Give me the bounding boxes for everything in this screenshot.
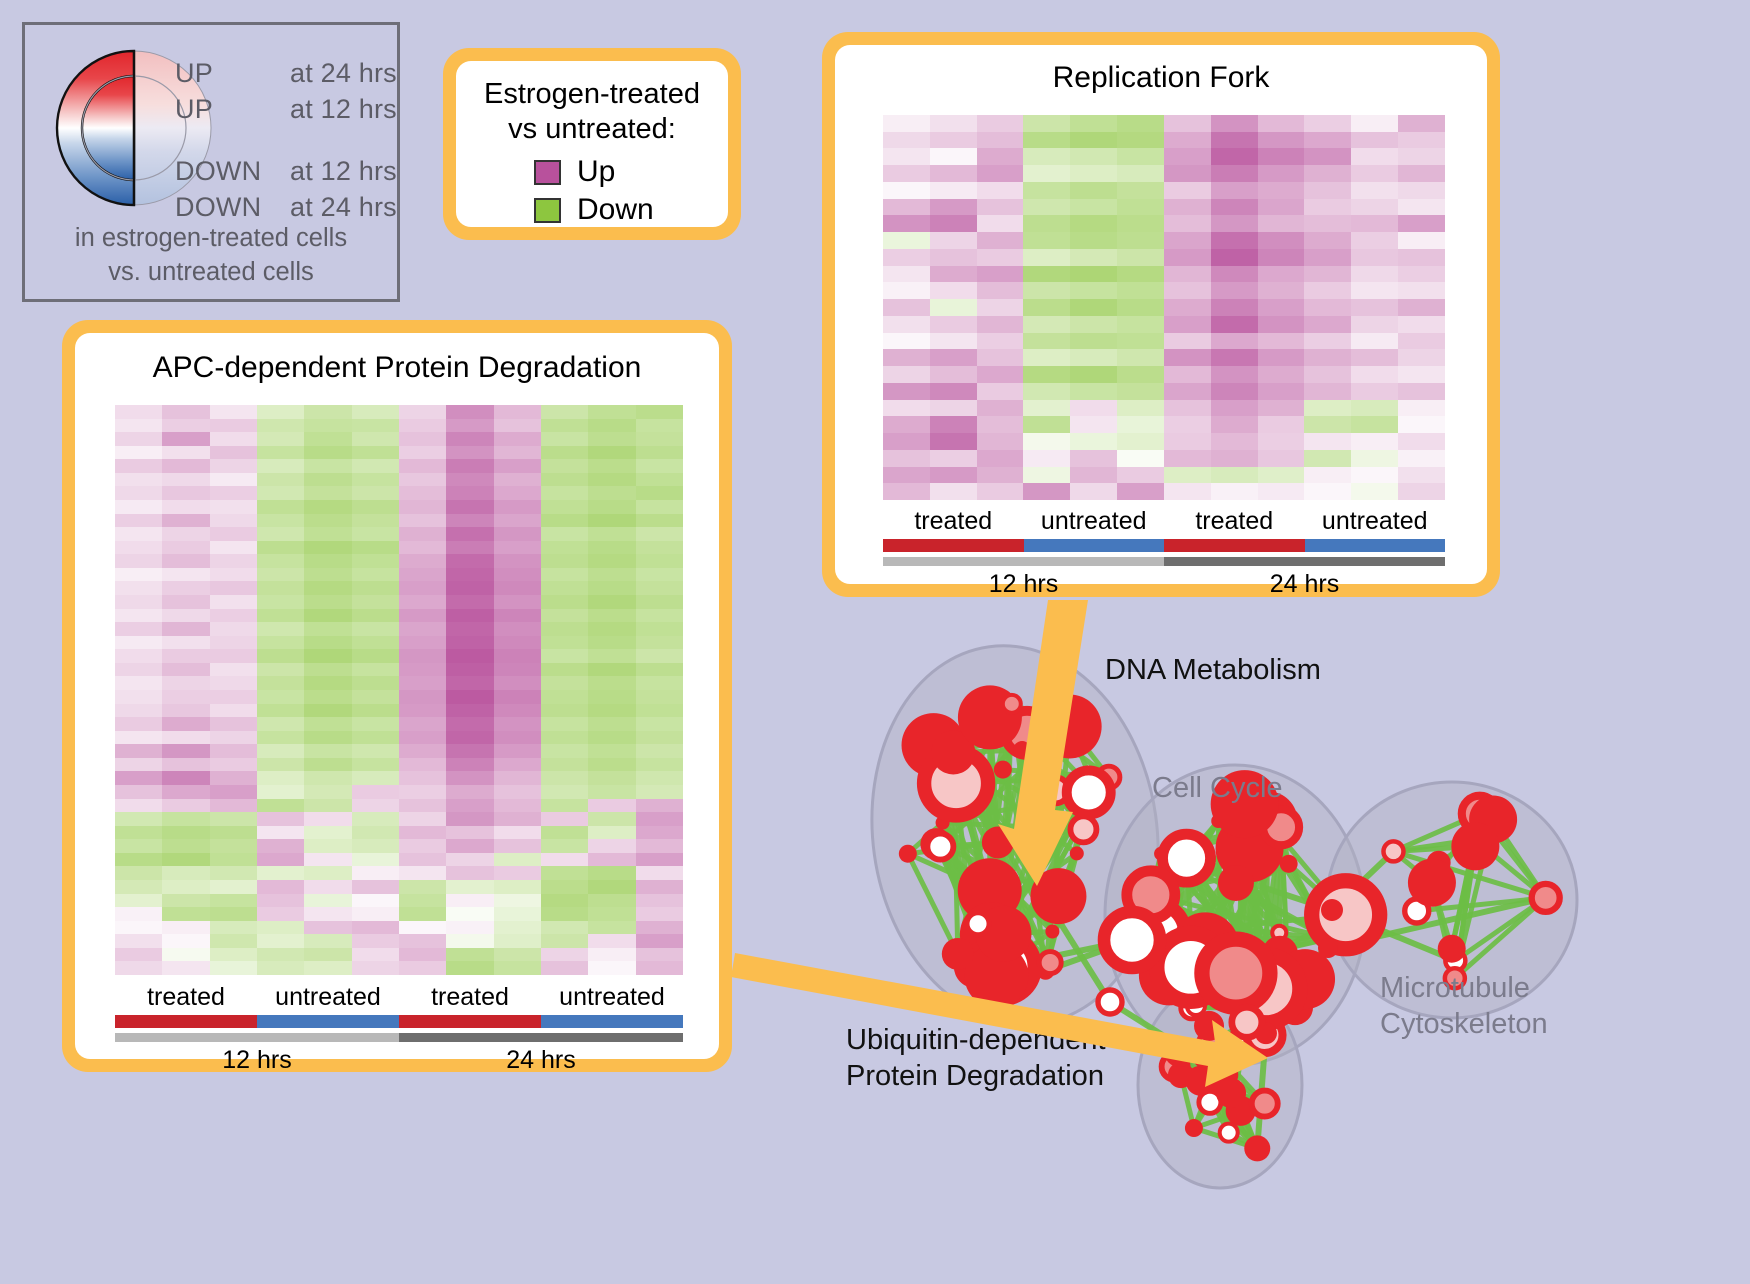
heatmap-cell: [257, 609, 304, 623]
heatmap-cell: [1211, 165, 1258, 182]
heatmap-cell: [1398, 416, 1445, 433]
heatmap-cell: [494, 405, 541, 419]
heatmap-cell: [588, 581, 635, 595]
heatmap-cell: [115, 744, 162, 758]
heatmap-cell: [1258, 132, 1305, 149]
heatmap-cell: [115, 500, 162, 514]
up-swatch-icon: [534, 160, 561, 185]
heatmap-cell: [115, 866, 162, 880]
heatmap-cell: [1117, 199, 1164, 216]
heatmap-cell: [115, 934, 162, 948]
network-node: [1195, 1048, 1213, 1066]
heatmap-cell: [162, 731, 209, 745]
heatmap-cell: [930, 349, 977, 366]
heatmap-cell: [115, 649, 162, 663]
heatmap-cell: [115, 799, 162, 813]
heatmap-cell: [494, 541, 541, 555]
heatmap-cell: [541, 812, 588, 826]
heatmap-cell: [541, 961, 588, 975]
heatmap-cell: [257, 907, 304, 921]
network-node: [1408, 859, 1456, 907]
heatmap-cell: [304, 758, 351, 772]
timepoint-label: 24 hrs: [1164, 570, 1445, 599]
untreated-bar: [1305, 539, 1446, 552]
heatmap-cell: [541, 785, 588, 799]
cluster-label-microtubule-cytoskeleton: Microtubule Cytoskeleton: [1380, 970, 1548, 1042]
heatmap-cell: [304, 486, 351, 500]
heatmap-cell: [494, 446, 541, 460]
heatmap-cell: [541, 541, 588, 555]
color-key-row: UP at 24 hrs: [175, 55, 405, 91]
heatmap-cell: [1398, 366, 1445, 383]
heatmap-cell: [588, 921, 635, 935]
heatmap-cell: [494, 486, 541, 500]
heatmap-cell: [494, 771, 541, 785]
axis-group-label: untreated: [257, 983, 399, 1012]
heatmap-cell: [115, 921, 162, 935]
heatmap-cell: [1351, 366, 1398, 383]
heatmap-cell: [304, 554, 351, 568]
heatmap-cell: [210, 907, 257, 921]
heatmap-cell: [1023, 132, 1070, 149]
heatmap-cell: [883, 282, 930, 299]
heatmap-cell: [494, 961, 541, 975]
heatmap-cell: [304, 853, 351, 867]
heatmap-cell: [494, 744, 541, 758]
heatmap-cell: [352, 907, 399, 921]
heatmap-cell: [162, 799, 209, 813]
heatmap-cell: [304, 419, 351, 433]
heatmap-cell: [399, 853, 446, 867]
network-node: [1039, 952, 1061, 974]
heatmap-cell: [446, 771, 493, 785]
heatmap-cell: [352, 866, 399, 880]
heatmap-cell: [446, 826, 493, 840]
heatmap-cell: [210, 581, 257, 595]
heatmap-cell: [210, 541, 257, 555]
heatmap-cell: [210, 473, 257, 487]
heatmap-cell: [162, 771, 209, 785]
heatmap-cell: [636, 663, 683, 677]
heatmap-cell: [115, 446, 162, 460]
network-node: [1186, 1066, 1216, 1096]
heatmap-cell: [1258, 366, 1305, 383]
treated-bar: [883, 539, 1024, 552]
heatmap-cell: [446, 880, 493, 894]
network-node: [1216, 1078, 1246, 1108]
heatmap-cell: [210, 785, 257, 799]
heatmap-cell: [588, 717, 635, 731]
heatmap-cell: [636, 771, 683, 785]
heatmap-cell: [162, 704, 209, 718]
heatmap-cell: [210, 704, 257, 718]
heatmap-cell: [1164, 232, 1211, 249]
heatmap-cell: [588, 812, 635, 826]
network-node: [1218, 865, 1254, 901]
heatmap-cell: [1351, 215, 1398, 232]
heatmap-cell: [162, 948, 209, 962]
heatmap-cell: [162, 649, 209, 663]
cluster-label-dna-metabolism: DNA Metabolism: [1105, 652, 1321, 688]
heatmap-cell: [399, 514, 446, 528]
heatmap-cell: [1304, 333, 1351, 350]
heatmap-cell: [210, 799, 257, 813]
heatmap-cell: [1304, 450, 1351, 467]
heatmap-cell: [446, 622, 493, 636]
heatmap-cell: [1023, 383, 1070, 400]
heatmap-cell: [352, 799, 399, 813]
network-node: [1202, 939, 1270, 1007]
axis-group-bars: [115, 1015, 683, 1028]
axis-timepoint-bars: [883, 557, 1445, 566]
heatmap-cell: [399, 758, 446, 772]
heatmap-cell: [304, 568, 351, 582]
heatmap-cell: [494, 785, 541, 799]
heatmap-cell: [930, 450, 977, 467]
heatmap-cell: [1398, 333, 1445, 350]
heatmap-cell: [257, 419, 304, 433]
heatmap-cell: [588, 663, 635, 677]
heatmap-cell: [399, 446, 446, 460]
heatmap-cell: [930, 483, 977, 500]
heatmap-cell: [399, 799, 446, 813]
heatmap-cell: [883, 232, 930, 249]
heatmap-cell: [115, 636, 162, 650]
heatmap-cell: [1117, 383, 1164, 400]
heatmap-cell: [588, 622, 635, 636]
heatmap-cell: [399, 432, 446, 446]
heatmap-cell: [304, 704, 351, 718]
axis-group-labels: treated untreated treated untreated: [883, 507, 1445, 536]
heatmap-cell: [1211, 115, 1258, 132]
heatmap-cell: [588, 554, 635, 568]
network-node: [1280, 855, 1298, 873]
heatmap-cell: [352, 690, 399, 704]
heatmap-cell: [352, 717, 399, 731]
heatmap-cell: [399, 622, 446, 636]
heatmap-cell: [977, 249, 1024, 266]
heatmap-cell: [636, 405, 683, 419]
network-node: [899, 845, 917, 863]
heatmap-cell: [304, 500, 351, 514]
heatmap-cell: [352, 473, 399, 487]
heatmap-cell: [541, 731, 588, 745]
heatmap-cell: [541, 866, 588, 880]
heatmap-cell: [541, 676, 588, 690]
heatmap-cell: [588, 690, 635, 704]
heatmap-cell: [446, 446, 493, 460]
legend-title-line2: vs untreated:: [456, 112, 728, 147]
heatmap-cell: [446, 459, 493, 473]
heatmap-cell: [1070, 249, 1117, 266]
heatmap-cell: [1304, 182, 1351, 199]
heatmap-cell: [1023, 266, 1070, 283]
network-node: [1070, 846, 1084, 860]
heatmap-cell: [977, 349, 1024, 366]
heatmap-cell: [1023, 299, 1070, 316]
heatmap-cell: [1070, 199, 1117, 216]
heatmap-cell: [494, 459, 541, 473]
heatmap-cell: [588, 758, 635, 772]
heatmap-cell: [210, 839, 257, 853]
heatmap-cell: [399, 839, 446, 853]
heatmap-cell: [446, 839, 493, 853]
heatmap-cell: [1258, 483, 1305, 500]
heatmap-cell: [115, 826, 162, 840]
network-node: [1451, 822, 1499, 870]
heatmap-cell: [494, 826, 541, 840]
heatmap-cell: [115, 609, 162, 623]
heatmap-cell: [636, 609, 683, 623]
heatmap-cell: [1398, 450, 1445, 467]
heatmap-cell: [115, 473, 162, 487]
heatmap-cell: [1164, 349, 1211, 366]
heatmap-cell: [1023, 483, 1070, 500]
heatmap-cell: [304, 948, 351, 962]
heatmap-cell: [930, 232, 977, 249]
heatmap-cell: [1117, 366, 1164, 383]
network-node: [1003, 695, 1021, 713]
network-node: [1321, 899, 1343, 921]
heatmap-cell: [541, 839, 588, 853]
heatmap-cell: [1070, 416, 1117, 433]
heatmap-cell: [210, 500, 257, 514]
color-key-row: UP at 12 hrs: [175, 91, 405, 127]
legend-item-down: Down: [534, 191, 728, 229]
heatmap-cell: [1164, 450, 1211, 467]
heatmap-cell: [257, 921, 304, 935]
heatmap-cell: [1023, 416, 1070, 433]
heatmap-cell: [636, 853, 683, 867]
heatmap-cell: [883, 249, 930, 266]
heatmap-cell: [1117, 232, 1164, 249]
heatmap-cell: [257, 581, 304, 595]
heatmap-cell: [352, 704, 399, 718]
pathway-network: DNA Metabolism Cell Cycle Microtubule Cy…: [780, 610, 1750, 1279]
heatmap-cell: [1398, 115, 1445, 132]
heatmap-cell: [210, 636, 257, 650]
heatmap-cell: [1258, 232, 1305, 249]
heatmap-cell: [588, 649, 635, 663]
heatmap-cell: [883, 148, 930, 165]
heatmap-cell: [883, 366, 930, 383]
heatmap-cell: [1211, 132, 1258, 149]
heatmap-cell: [930, 115, 977, 132]
heatmap-cell: [257, 826, 304, 840]
heatmap-cell: [257, 649, 304, 663]
heatmap-cell: [1398, 316, 1445, 333]
heatmap-cell: [1164, 333, 1211, 350]
heatmap-cell: [588, 636, 635, 650]
heatmap-cell: [1023, 467, 1070, 484]
heatmap-cell: [930, 165, 977, 182]
heatmap-cell: [588, 446, 635, 460]
key-direction: UP: [175, 94, 290, 125]
panel-title: APC-dependent Protein Degradation: [75, 333, 719, 385]
heatmap-cell: [210, 405, 257, 419]
heatmap-cell: [541, 568, 588, 582]
heatmap-cell: [257, 731, 304, 745]
heatmap-cell: [883, 199, 930, 216]
heatmap-cell: [588, 486, 635, 500]
heatmap-cell: [977, 333, 1024, 350]
heatmap-cell: [1304, 467, 1351, 484]
network-graph: [780, 610, 1750, 1279]
heatmap-cell: [399, 609, 446, 623]
heatmap-cell: [1117, 433, 1164, 450]
heatmap-cell: [210, 731, 257, 745]
heatmap-cell: [1117, 215, 1164, 232]
heatmap-cell: [1070, 450, 1117, 467]
heatmap-cell: [1211, 182, 1258, 199]
heatmap-cell: [1304, 366, 1351, 383]
heatmap-cell: [1398, 400, 1445, 417]
network-node: [1318, 938, 1338, 958]
heatmap-cell: [210, 826, 257, 840]
heatmap-cell: [930, 433, 977, 450]
heatmap-cell: [636, 432, 683, 446]
heatmap-cell: [399, 663, 446, 677]
heatmap-cell: [1117, 165, 1164, 182]
heatmap-cell: [977, 316, 1024, 333]
heatmap-cell: [588, 771, 635, 785]
heatmap-cell: [162, 459, 209, 473]
down-swatch-icon: [534, 198, 561, 223]
key-time: at 12 hrs: [290, 94, 397, 125]
heatmap-cell: [1258, 333, 1305, 350]
heatmap-cell: [1258, 282, 1305, 299]
heatmap-cell: [162, 419, 209, 433]
heatmap-cell: [1398, 467, 1445, 484]
heatmap-cell: [494, 514, 541, 528]
heatmap-cell: [1023, 148, 1070, 165]
heatmap-cell: [930, 416, 977, 433]
heatmap-cell: [446, 527, 493, 541]
heatmap-cell: [352, 609, 399, 623]
heatmap-cell: [210, 527, 257, 541]
heatmap-cell: [1258, 316, 1305, 333]
heatmap-cell: [930, 333, 977, 350]
heatmap-cell: [588, 744, 635, 758]
heatmap-cell: [1117, 182, 1164, 199]
heatmap-cell: [399, 636, 446, 650]
heatmap-cell: [162, 826, 209, 840]
heatmap-cell: [257, 473, 304, 487]
heatmap-cell: [636, 758, 683, 772]
heatmap-cell: [977, 182, 1024, 199]
heatmap-cell: [115, 731, 162, 745]
heatmap-cell: [257, 676, 304, 690]
heatmap-cell: [304, 907, 351, 921]
heatmap-cell: [210, 771, 257, 785]
heatmap-cell: [541, 595, 588, 609]
heatmap-cell: [210, 961, 257, 975]
network-node: [1383, 841, 1403, 861]
heatmap-cell: [494, 663, 541, 677]
heatmap-cell: [210, 812, 257, 826]
heatmap-cell: [1211, 215, 1258, 232]
heatmap-cell: [115, 554, 162, 568]
heatmap-cell: [541, 609, 588, 623]
heatmap-cell: [257, 771, 304, 785]
heatmap-cell: [541, 473, 588, 487]
heatmap-cell: [588, 853, 635, 867]
heatmap-cell: [1070, 467, 1117, 484]
heatmap-cell: [930, 299, 977, 316]
heatmap-cell: [636, 704, 683, 718]
heatmap-cell: [1351, 450, 1398, 467]
heatmap-cell: [304, 622, 351, 636]
heatmap-cell: [1117, 299, 1164, 316]
heatmap-cell: [257, 446, 304, 460]
heatmap-cell: [304, 609, 351, 623]
heatmap-cell: [1164, 366, 1211, 383]
apc-degradation-panel: APC-dependent Protein Degradation treate…: [62, 320, 732, 1072]
heatmap-cell: [304, 514, 351, 528]
heatmap-cell: [304, 676, 351, 690]
heatmap-cell: [1117, 115, 1164, 132]
heatmap-cell: [1117, 467, 1164, 484]
heatmap-cell: [636, 459, 683, 473]
heatmap-cell: [210, 934, 257, 948]
heatmap-cell: [1351, 165, 1398, 182]
heatmap-cell: [588, 541, 635, 555]
network-node: [1013, 741, 1031, 759]
heatmap-cell: [115, 459, 162, 473]
heatmap-cell: [1023, 349, 1070, 366]
heatmap-cell: [446, 690, 493, 704]
heatmap-cell: [352, 595, 399, 609]
heatmap-cell: [1304, 483, 1351, 500]
heatmap-cell: [257, 894, 304, 908]
heatmap-cell: [1351, 316, 1398, 333]
heatmap-cell: [541, 894, 588, 908]
heatmap-cell: [636, 921, 683, 935]
heatmap-cell: [1164, 165, 1211, 182]
heatmap-cell: [1304, 115, 1351, 132]
heatmap-cell: [257, 961, 304, 975]
heatmap-cell: [541, 771, 588, 785]
heatmap-cell: [1211, 433, 1258, 450]
heatmap-cell: [1023, 215, 1070, 232]
heatmap-cell: [588, 839, 635, 853]
heatmap-cell: [304, 663, 351, 677]
heatmap-cell: [1164, 416, 1211, 433]
heatmap-cell: [352, 785, 399, 799]
heatmap-cell: [352, 486, 399, 500]
heatmap-cell: [162, 690, 209, 704]
axis-group-label: untreated: [541, 983, 683, 1012]
heatmap-cell: [1258, 215, 1305, 232]
heatmap-cell: [210, 853, 257, 867]
heatmap-cell: [588, 704, 635, 718]
heatmap-cell: [446, 717, 493, 731]
heatmap-cell: [446, 636, 493, 650]
heatmap-cell: [588, 514, 635, 528]
axis-group-label: treated: [399, 983, 541, 1012]
heatmap-cell: [352, 853, 399, 867]
heatmap-cell: [977, 165, 1024, 182]
axis-group-labels: treated untreated treated untreated: [115, 983, 683, 1012]
heatmap-cell: [446, 405, 493, 419]
heatmap-cell: [1211, 467, 1258, 484]
heatmap-cell: [162, 541, 209, 555]
heatmap-cell: [588, 894, 635, 908]
heatmap-cell: [636, 676, 683, 690]
heatmap-cell: [210, 459, 257, 473]
heatmap-cell: [930, 132, 977, 149]
heatmap-cell: [588, 785, 635, 799]
